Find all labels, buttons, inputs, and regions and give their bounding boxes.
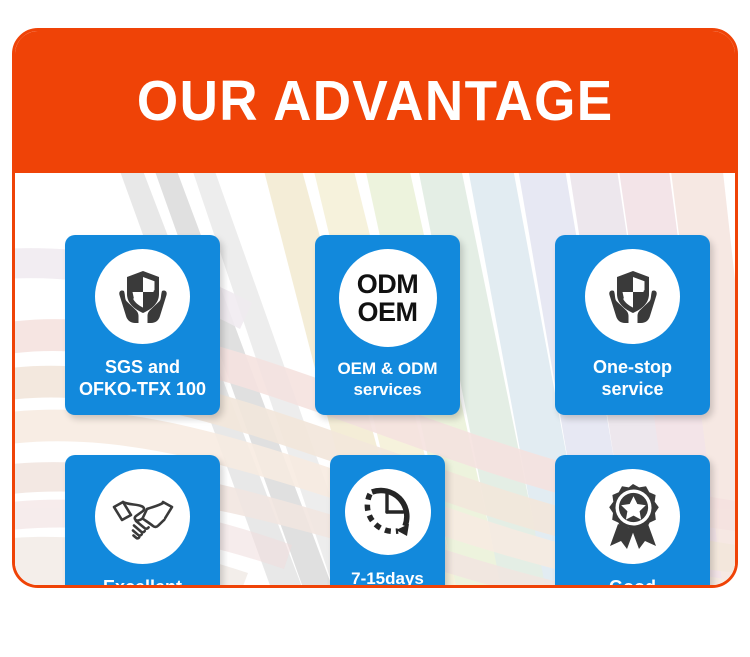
page-title: OUR ADVANTAGE	[137, 68, 614, 134]
advantage-card-oem-odm-services[interactable]: ODM OEM OEM & ODM services	[315, 235, 460, 415]
advantage-card-good-quality[interactable]: Good Quality	[555, 455, 710, 588]
clock-arrow-icon	[356, 480, 420, 544]
odm-line: ODM	[357, 270, 419, 298]
icon-container: ODM OEM	[339, 249, 437, 347]
advantage-card-grid: SGS and OFKO-TFX 100 ODM OEM OEM & ODM s…	[12, 173, 738, 588]
banner-header: OUR ADVANTAGE	[12, 28, 738, 173]
award-medal-icon	[596, 480, 670, 554]
icon-container	[585, 249, 680, 344]
advantage-card-delivery-time[interactable]: 7-15days delivery	[330, 455, 445, 588]
advantage-card-sgs-certification[interactable]: SGS and OFKO-TFX 100	[65, 235, 220, 415]
icon-container	[95, 469, 190, 564]
card-label: Good Quality	[602, 576, 663, 588]
advantage-card-excellent-services[interactable]: Excellent Services	[65, 455, 220, 588]
card-label: One-stop service	[593, 356, 672, 401]
handshake-icon	[106, 480, 180, 554]
advantage-card-one-stop-service[interactable]: One-stop service	[555, 235, 710, 415]
shield-in-hands-icon	[597, 261, 669, 333]
advantage-banner: OUR ADVANTAGE	[12, 28, 738, 588]
card-label: Excellent Services	[103, 576, 182, 588]
icon-container	[585, 469, 680, 564]
cards-area: SGS and OFKO-TFX 100 ODM OEM OEM & ODM s…	[12, 173, 738, 588]
icon-container	[345, 469, 431, 555]
card-label: SGS and OFKO-TFX 100	[79, 356, 206, 401]
shield-in-hands-icon	[107, 261, 179, 333]
oem-line: OEM	[357, 298, 419, 326]
odm-oem-text-icon: ODM OEM	[357, 270, 419, 326]
card-label: OEM & ODM services	[337, 358, 437, 400]
card-label: 7-15days delivery	[351, 568, 424, 588]
icon-container	[95, 249, 190, 344]
